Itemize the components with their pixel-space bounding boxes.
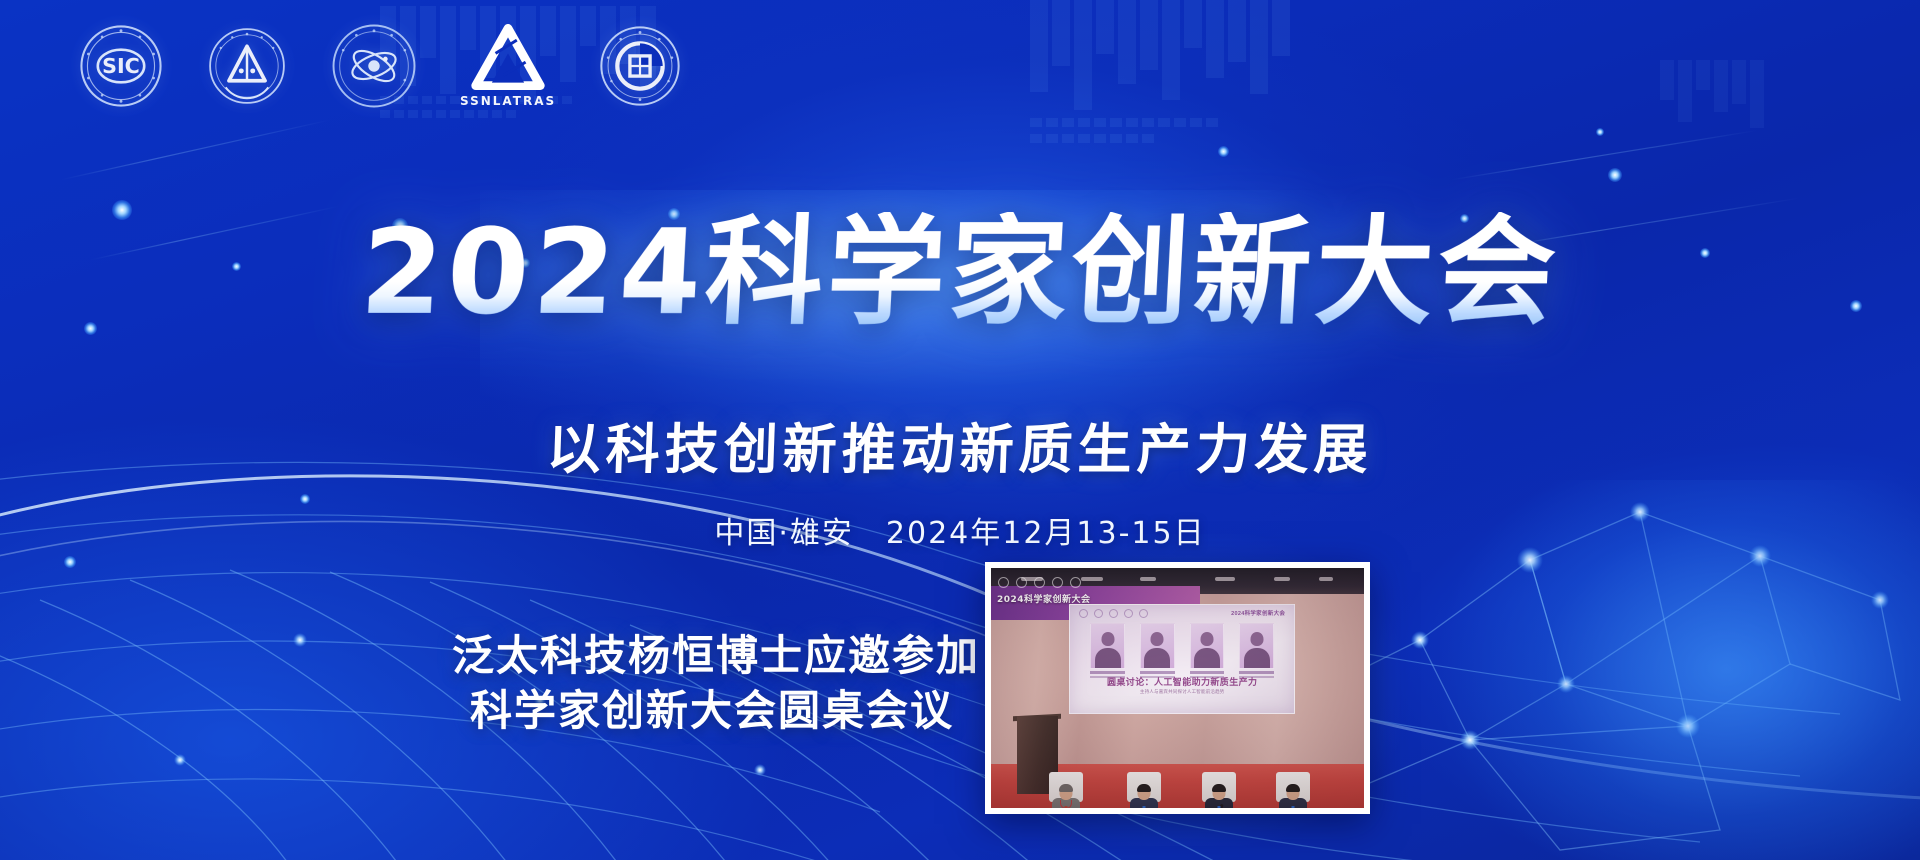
glow-dot [1596, 128, 1604, 136]
photo-portrait-head [1101, 632, 1114, 646]
photo-portrait-head [1250, 632, 1263, 646]
photo-banner-icon [1052, 577, 1063, 588]
photo-portrait-name [1190, 671, 1225, 674]
photo-ceiling-light [1140, 577, 1156, 581]
photo-screen-icon [1094, 609, 1103, 618]
glow-dot [300, 494, 310, 504]
conference-banner: SIC [0, 0, 1920, 860]
logo-triangle-mark-icon [471, 24, 545, 90]
photo-portrait-body [1194, 648, 1220, 668]
photo-panelist-hair [1059, 784, 1073, 792]
event-photo: 2024科学家创新大会 2024科学家创新大会 [991, 568, 1364, 808]
photo-portrait [1190, 623, 1225, 678]
photo-banner-icon [1070, 577, 1081, 588]
page-subtitle: 以科技创新推动新质生产力发展 [0, 405, 1920, 484]
event-photo-frame: 2024科学家创新大会 2024科学家创新大会 [985, 562, 1370, 814]
logo-sic-circular-icon: SIC [78, 23, 164, 109]
photo-panelist-hair [1212, 784, 1226, 792]
photo-stage-banner-icons [998, 577, 1081, 588]
photo-portrait-body [1144, 648, 1170, 668]
photo-screen-header-title: 2024科学家创新大会 [1231, 609, 1285, 617]
photo-portrait-head [1151, 632, 1164, 646]
photo-panelist-badge [1142, 806, 1145, 808]
organizer-logo-strip: SIC [78, 22, 682, 110]
photo-screen-icons [1079, 609, 1148, 618]
caption-line-2: 科学家创新大会圆桌会议 [452, 683, 972, 738]
glow-dot [64, 556, 76, 568]
photo-portrait-box [1090, 623, 1125, 669]
photo-portrait [1140, 623, 1175, 678]
background-datablocks-right [1030, 0, 1590, 170]
svg-text:SIC: SIC [102, 54, 140, 78]
photo-banner-icon [1016, 577, 1027, 588]
photo-panelist-badge [1064, 806, 1067, 808]
photo-portrait-name [1090, 671, 1125, 674]
photo-screen-topic: 圆桌讨论：人工智能助力新质生产力 [1086, 675, 1278, 688]
event-caption: 泛太科技杨恒博士应邀参加 科学家创新大会圆桌会议 [452, 628, 972, 739]
photo-ceiling-light [1319, 577, 1333, 581]
photo-banner-icon [1034, 577, 1045, 588]
photo-portrait-box [1239, 623, 1274, 669]
photo-screen-icon [1124, 609, 1133, 618]
photo-portrait-box [1140, 623, 1175, 669]
photo-panelist-hair [1137, 784, 1151, 792]
photo-projection-screen: 2024科学家创新大会 [1069, 604, 1295, 714]
photo-screen-topic-subtitle: 主持人与嘉宾共同探讨人工智能前沿趋势 [1086, 689, 1278, 695]
photo-ceiling-light [1274, 577, 1290, 581]
photo-portrait [1239, 623, 1274, 678]
glow-dot [1218, 146, 1229, 157]
photo-portrait-name [1140, 671, 1175, 674]
photo-banner-icon [998, 577, 1009, 588]
photo-ceiling-light [1081, 577, 1103, 581]
logo-triangle-seal-icon [206, 25, 288, 107]
page-title: 2024科学家创新大会 [358, 212, 1563, 332]
photo-screen-icon [1109, 609, 1118, 618]
photo-portrait-name [1239, 671, 1274, 674]
photo-portrait-body [1244, 648, 1270, 668]
photo-panelist-badge [1217, 806, 1220, 808]
photo-portrait [1090, 623, 1125, 678]
photo-ceiling-light [1215, 577, 1235, 581]
logo-atom-seal-icon [330, 22, 418, 110]
photo-screen-icon [1139, 609, 1148, 618]
background-datablocks-far-right [1660, 60, 1920, 180]
photo-screen-icon [1079, 609, 1088, 618]
photo-panelist-hair [1286, 784, 1300, 792]
logo-triangle-mark-caption: SSNLATRAS [460, 94, 556, 108]
caption-line-1: 泛太科技杨恒博士应邀参加 [452, 628, 972, 683]
photo-portrait-body [1095, 648, 1121, 668]
photo-portrait-head [1200, 632, 1213, 646]
event-dateline: 中国·雄安 2024年12月13-15日 [0, 508, 1920, 552]
photo-portrait-box [1190, 623, 1225, 669]
logo-swirl-seal-icon [598, 24, 682, 108]
logo-triangle-mark: SSNLATRAS [460, 24, 556, 108]
photo-panelist-badge [1292, 806, 1295, 808]
glow-dot [1608, 168, 1622, 182]
headline-block: 2024科学家创新大会 [0, 212, 1920, 332]
photo-panelist-portraits [1090, 623, 1274, 678]
